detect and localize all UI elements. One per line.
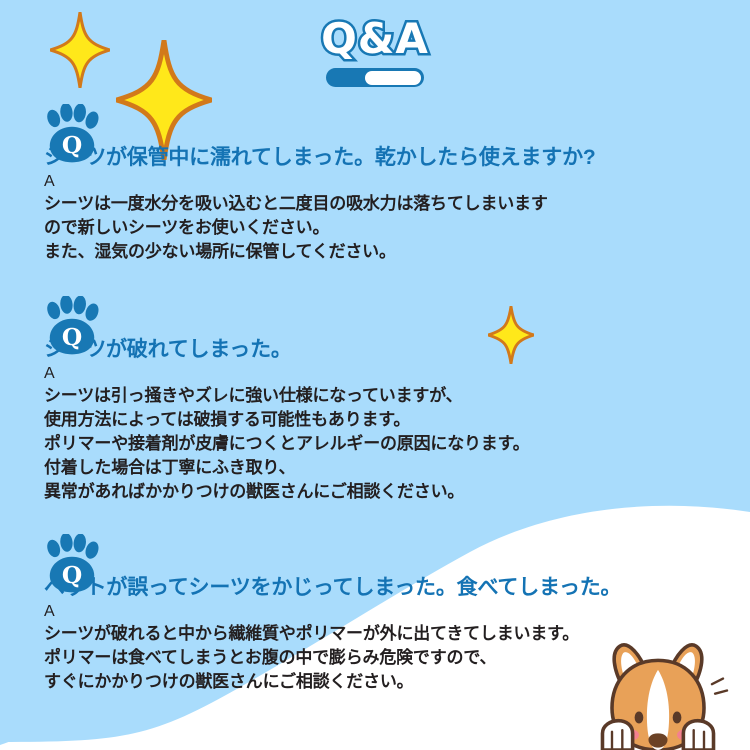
question-text-2: シーツが破れてしまった。 — [44, 338, 530, 363]
answer-line: シーツは一度水分を吸い込むと二度目の吸水力は落ちてしまいます — [44, 192, 596, 216]
answer-line: 付着した場合は丁寧にふき取り、 — [44, 456, 530, 480]
answer-line: シーツは引っ掻きやズレに強い仕様になっていますが、 — [44, 384, 530, 408]
question-text-3: ペットが誤ってシーツをかじってしまった。食べてしまった。 — [44, 576, 621, 601]
paw-print-q-icon: Q — [44, 296, 100, 356]
corgi-motion-lines — [712, 679, 727, 694]
qa-text-wrap-2: シーツが破れてしまった。 A シーツは引っ掻きやズレに強い仕様になっていますが、… — [44, 296, 530, 504]
page-title: Q&A — [321, 18, 429, 60]
answer-line: 異常があればかかりつけの獣医さんにご相談ください。 — [44, 480, 530, 504]
progress-bar — [326, 68, 424, 87]
progress-bar-knob — [365, 71, 421, 85]
answer-line: シーツが破れると中から繊維質やポリマーが外に出てきてしまいます。 — [44, 622, 621, 646]
answer-label-3: A — [44, 602, 621, 622]
paw-print-q-icon: Q — [44, 104, 100, 164]
answer-body-3: シーツが破れると中から繊維質やポリマーが外に出てきてしまいます。 ポリマーは食べ… — [44, 622, 621, 694]
qa-item-3: Q ペットが誤ってシーツをかじってしまった。食べてしまった。 A シーツが破れる… — [44, 534, 621, 694]
answer-body-2: シーツは引っ掻きやズレに強い仕様になっていますが、 使用方法によっては破損する可… — [44, 384, 530, 505]
qa-text-wrap-3: ペットが誤ってシーツをかじってしまった。食べてしまった。 A シーツが破れると中… — [44, 534, 621, 694]
paw-print-q-icon: Q — [44, 534, 100, 594]
header: Q&A — [0, 18, 750, 87]
corgi-left-eye — [635, 712, 644, 724]
corgi-left-paw — [602, 721, 632, 750]
answer-line: ポリマーは食べてしまうとお腹の中で膨らみ危険ですので、 — [44, 646, 621, 670]
qa-page: Q&A Q シーツが保管中に濡れてしまった。乾かしたら使えますか? A シーツは… — [0, 0, 750, 750]
answer-body-1: シーツは一度水分を吸い込むと二度目の吸水力は落ちてしまいます ので新しいシーツを… — [44, 192, 596, 264]
corgi-dog-illustration — [578, 635, 738, 750]
corgi-right-paw — [683, 721, 713, 750]
corgi-right-eye — [673, 712, 682, 724]
answer-line: ポリマーや接着剤が皮膚につくとアレルギーの原因になります。 — [44, 432, 530, 456]
answer-line: ので新しいシーツをお使いください。 — [44, 216, 596, 240]
answer-label-1: A — [44, 172, 596, 192]
answer-label-2: A — [44, 364, 530, 384]
paw-badge-letter: Q — [62, 323, 82, 351]
answer-line: すぐにかかりつけの獣医さんにご相談ください。 — [44, 670, 621, 694]
answer-line: 使用方法によっては破損する可能性もあります。 — [44, 408, 530, 432]
question-text-1: シーツが保管中に濡れてしまった。乾かしたら使えますか? — [44, 146, 596, 171]
paw-badge-letter: Q — [62, 561, 82, 589]
paw-badge-letter: Q — [62, 131, 82, 159]
qa-item-1: Q シーツが保管中に濡れてしまった。乾かしたら使えますか? A シーツは一度水分… — [44, 104, 596, 264]
qa-text-wrap-1: シーツが保管中に濡れてしまった。乾かしたら使えますか? A シーツは一度水分を吸… — [44, 104, 596, 264]
answer-line: また、湿気の少ない場所に保管してください。 — [44, 240, 596, 264]
qa-item-2: Q シーツが破れてしまった。 A シーツは引っ掻きやズレに強い仕様になっています… — [44, 296, 530, 504]
